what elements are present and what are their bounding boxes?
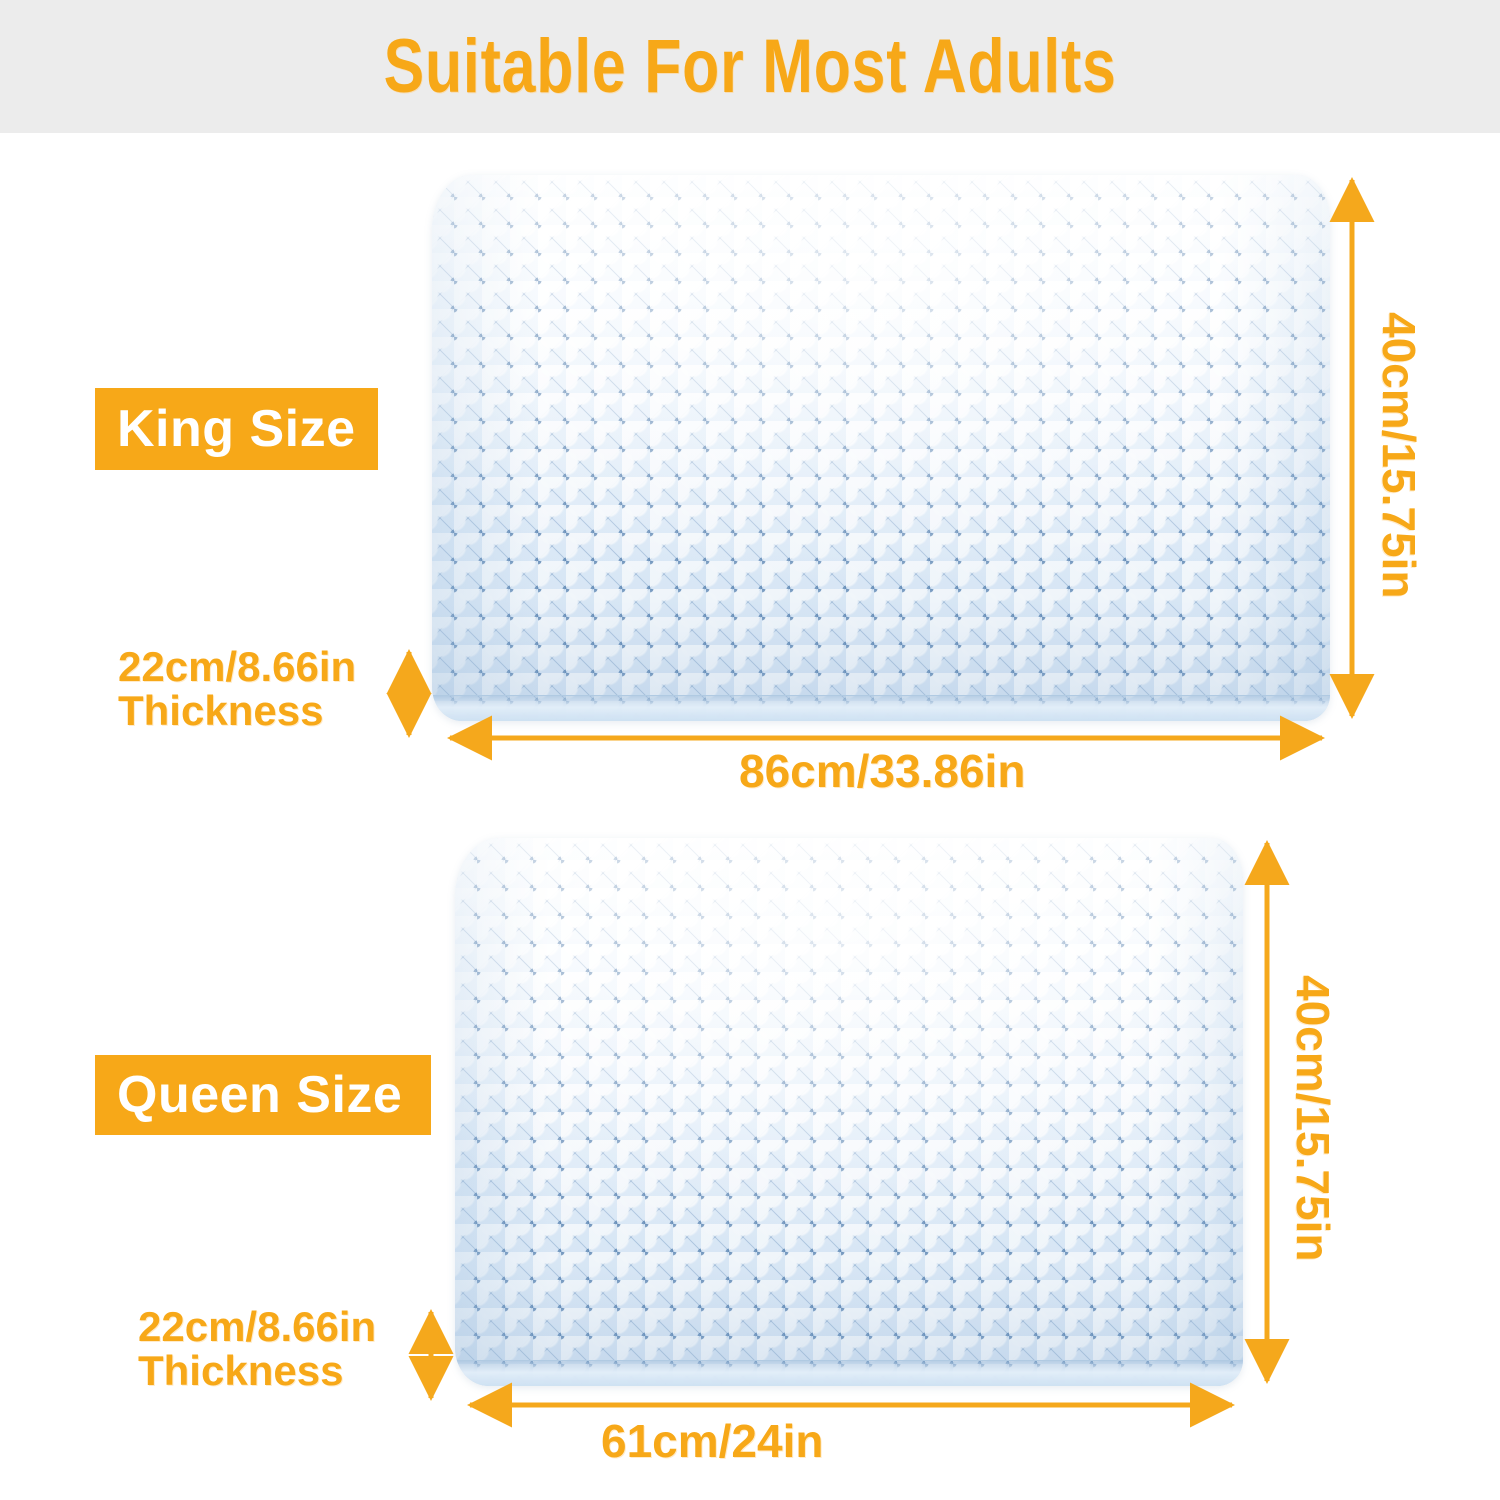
king-thickness-value: 22cm/8.66in [118,645,356,689]
size-badge-queen: Queen Size [95,1055,431,1135]
size-badge-king: King Size [95,388,378,470]
fabric-shading-overlay [455,838,1243,1386]
queen-thickness-caption: Thickness [138,1349,376,1393]
dimension-label-king-thickness: 22cm/8.66in Thickness [118,645,356,732]
king-thickness-caption: Thickness [118,689,356,733]
queen-pillow-surface [455,838,1243,1386]
pillow-bottom-seam [455,1360,1243,1386]
dimension-label-king-width: 86cm/33.86in [739,748,1025,796]
page-title: Suitable For Most Adults [383,23,1116,110]
pillow-bottom-seam [432,695,1330,721]
king-pillow-surface [432,175,1330,721]
fabric-shading-overlay [432,175,1330,721]
size-badge-queen-label: Queen Size [117,1065,402,1125]
queen-thickness-value: 22cm/8.66in [138,1305,376,1349]
product-image-queen-pillow [455,838,1243,1386]
product-image-king-pillow [432,175,1330,721]
dimension-label-queen-thickness: 22cm/8.66in Thickness [138,1305,376,1392]
dimension-label-queen-width: 61cm/24in [601,1418,823,1466]
dimension-label-king-height: 40cm/15.75in [1372,312,1426,598]
size-badge-king-label: King Size [117,399,356,459]
header-band: Suitable For Most Adults [0,0,1500,133]
dimension-label-queen-height: 40cm/15.75in [1286,975,1340,1261]
